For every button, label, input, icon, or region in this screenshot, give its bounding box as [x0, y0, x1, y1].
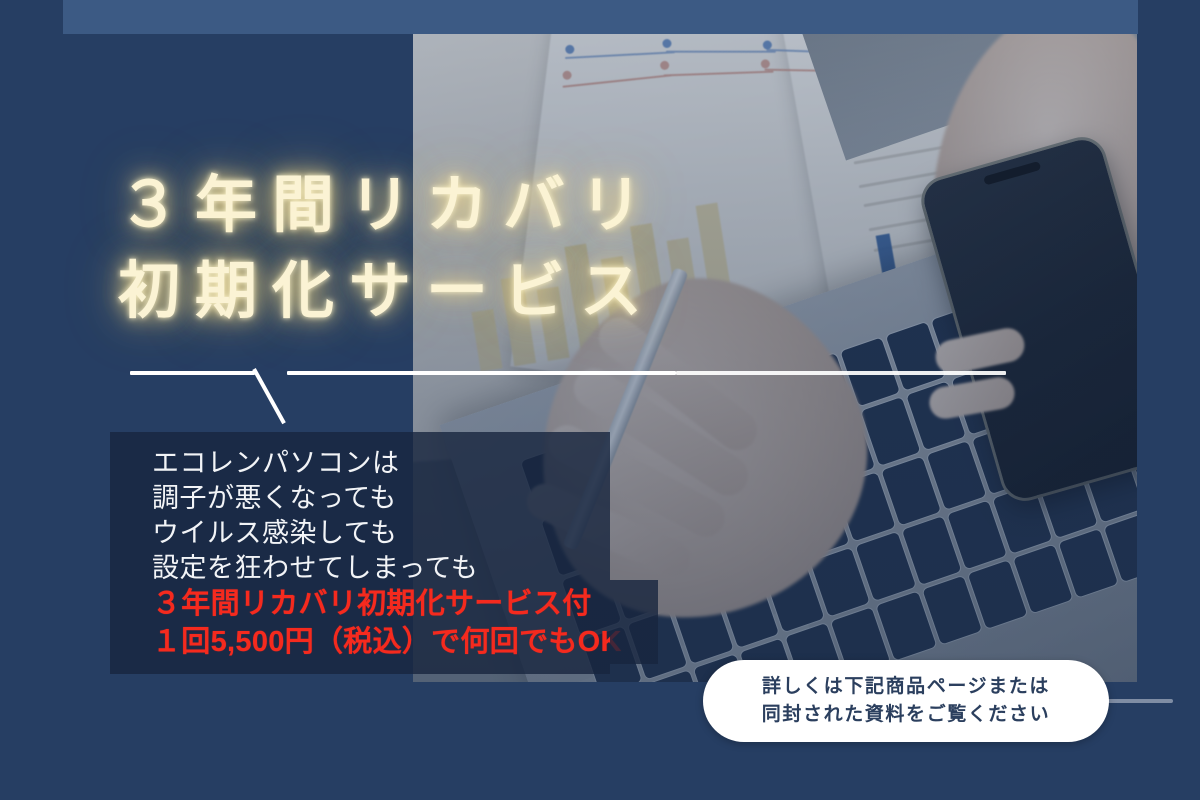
body-line-4: 設定を狂わせてしまっても	[152, 551, 610, 586]
left-navy-panel	[0, 0, 413, 800]
body-line-2: 調子が悪くなっても	[152, 481, 610, 516]
right-navy-border	[1137, 0, 1200, 800]
body-line-6-price: １回5,500円（税込）で何回でもOK	[152, 624, 610, 662]
headline: ３年間リカバリ 初期化サービス	[118, 163, 657, 334]
promotional-banner: ３年間リカバリ 初期化サービス エコレンパソコンは 調子が悪くなっても ウイルス…	[0, 0, 1200, 800]
body-line-5-highlight: ３年間リカバリ初期化サービス付	[152, 586, 610, 624]
body-line-1: エコレンパソコンは	[152, 446, 610, 481]
body-line-3: ウイルス感染しても	[152, 516, 610, 551]
callout-line-1: 詳しくは下記商品ページまたは	[762, 673, 1050, 701]
callout-pill[interactable]: 詳しくは下記商品ページまたは 同封された資料をご覧ください	[703, 660, 1109, 742]
callout-line-2: 同封された資料をご覧ください	[762, 701, 1050, 729]
panel-step-extension	[610, 580, 658, 664]
body-text-panel: エコレンパソコンは 調子が悪くなっても ウイルス感染しても 設定を狂わせてしまっ…	[110, 432, 610, 674]
top-accent-band	[63, 0, 1138, 34]
